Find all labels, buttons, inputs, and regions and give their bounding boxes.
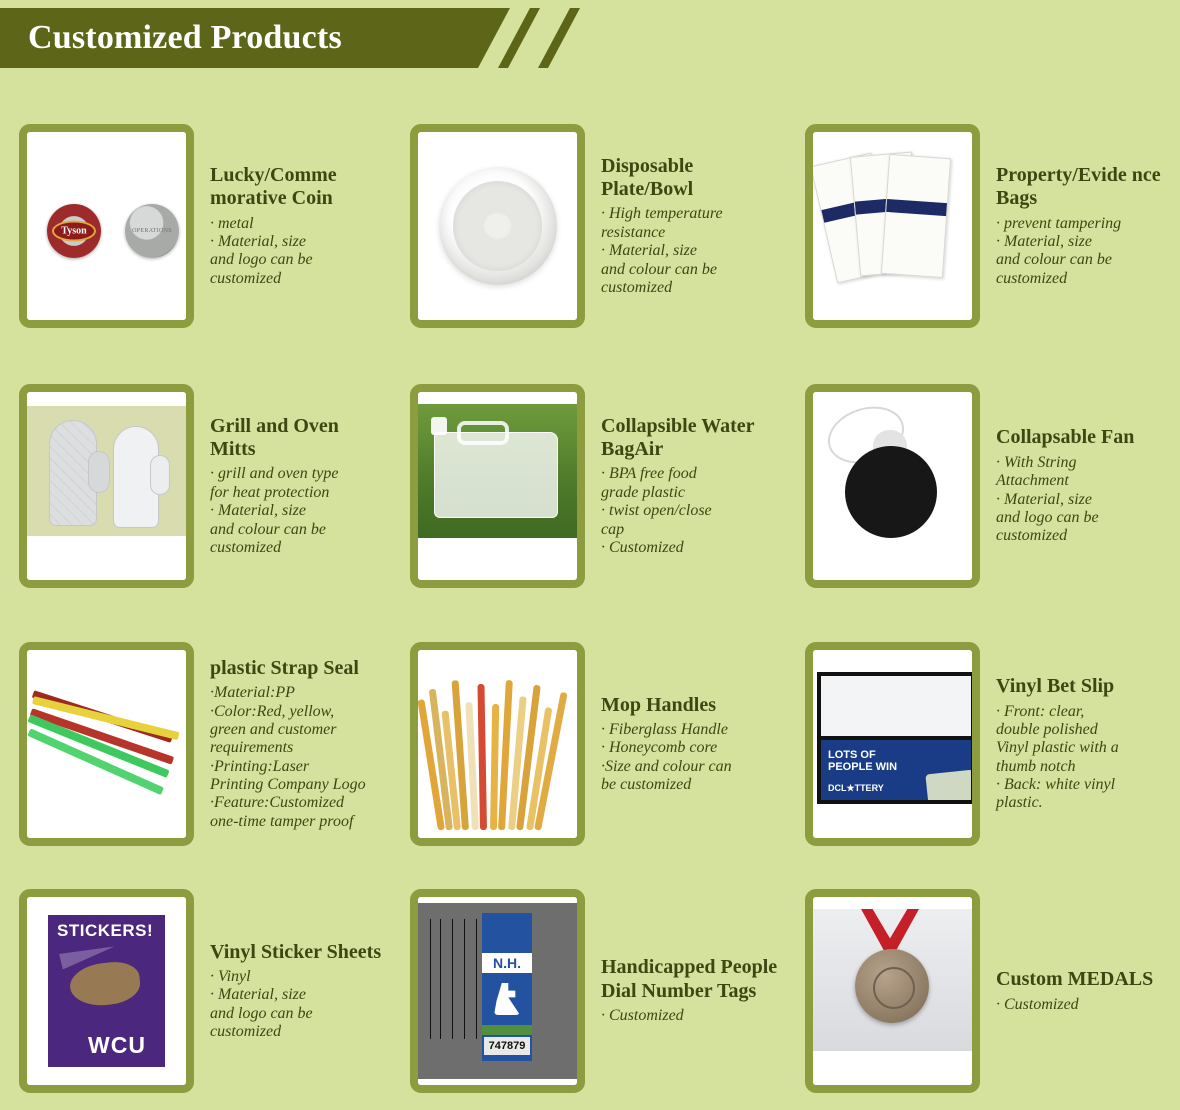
product-image-frame	[410, 124, 585, 328]
dc-lottery-logo: DCL★TTERY	[828, 783, 884, 794]
product-bullet: · Material, size	[210, 502, 386, 520]
product-bullet: and logo can be	[996, 509, 1170, 527]
product-image-frame	[805, 889, 980, 1093]
product-image-frame	[805, 384, 980, 588]
product-bullet: · Vinyl	[210, 968, 386, 986]
product-info: Collapsable Fan · With String Attachment…	[980, 426, 1176, 545]
product-bullet: customized	[996, 270, 1170, 288]
disposable-plate-photo	[418, 132, 577, 320]
product-card[interactable]: LOTS OF PEOPLE WIN DCL★TTERY Vinyl Bet S…	[784, 616, 1176, 872]
product-card[interactable]: Collapsible Water BagAir · BPA free food…	[392, 356, 784, 616]
product-card[interactable]: plastic Strap Seal ·Material:PP ·Color:R…	[0, 616, 392, 872]
product-card[interactable]: Collapsable Fan · With String Attachment…	[784, 356, 1176, 616]
product-bullet: · Fiberglass Handle	[601, 721, 778, 739]
product-bullet: · Customized	[601, 539, 778, 557]
product-bullet: and colour can be	[996, 251, 1170, 269]
oven-mitt-icon	[49, 420, 97, 526]
handicapped-dial-number-tag-photo: N.H. 747879	[418, 897, 577, 1085]
product-bullet: · High temperature	[601, 205, 778, 223]
product-row: Lucky/Comme morative Coin · metal · Mate…	[0, 96, 1180, 356]
product-info: Collapsible Water BagAir · BPA free food…	[585, 415, 784, 558]
product-bullet: · Back: white vinyl	[996, 776, 1170, 794]
product-title: Custom MEDALS	[996, 968, 1170, 991]
mop-handle-icon	[477, 684, 487, 830]
sticker-sheet-icon: STICKERS! WCU	[37, 905, 176, 1077]
product-image-frame: N.H. 747879	[410, 889, 585, 1093]
product-bullet: · Customized	[996, 996, 1170, 1014]
product-title: Property/Evide nce Bags	[996, 164, 1170, 211]
coin-silver-icon	[125, 204, 179, 258]
product-card[interactable]: Disposable Plate/Bowl · High temperature…	[392, 96, 784, 356]
product-bullet: resistance	[601, 224, 778, 242]
medal-disc-icon	[855, 949, 929, 1023]
product-description: · Vinyl · Material, size and logo can be…	[210, 968, 386, 1042]
product-image-frame	[805, 124, 980, 328]
product-info: Lucky/Comme morative Coin · metal · Mate…	[194, 164, 392, 288]
product-bullet: · Material, size	[210, 986, 386, 1004]
product-bullet: grade plastic	[601, 484, 778, 502]
vinyl-bet-slip-photo: LOTS OF PEOPLE WIN DCL★TTERY	[813, 650, 972, 838]
product-bullet: customized	[601, 279, 778, 297]
wire-frame-icon	[428, 919, 480, 1039]
bet-slip-headline-line2: PEOPLE WIN	[828, 761, 897, 773]
product-title: Vinyl Sticker Sheets	[210, 941, 386, 964]
bet-slip-headline-line1: LOTS OF	[828, 749, 876, 761]
fan-disc-icon	[845, 446, 937, 538]
product-bullet: · With String	[996, 454, 1170, 472]
product-bullet: · Customized	[601, 1007, 778, 1025]
product-description: ·Material:PP ·Color:Red, yellow, green a…	[210, 684, 386, 831]
product-bullet: · Material, size	[996, 233, 1170, 251]
product-bullet: · Front: clear,	[996, 703, 1170, 721]
product-info: Property/Evide nce Bags · prevent tamper…	[980, 164, 1176, 288]
product-info: Custom MEDALS · Customized	[980, 968, 1176, 1014]
product-bullet: be customized	[601, 776, 778, 794]
product-info: Vinyl Sticker Sheets · Vinyl · Material,…	[194, 941, 392, 1042]
product-bullet: · prevent tampering	[996, 215, 1170, 233]
product-image-frame	[19, 124, 194, 328]
product-card[interactable]: Lucky/Comme morative Coin · metal · Mate…	[0, 96, 392, 356]
product-card[interactable]: Property/Evide nce Bags · prevent tamper…	[784, 96, 1176, 356]
banknote-icon	[925, 770, 975, 804]
product-bullet: ·Material:PP	[210, 684, 386, 702]
product-bullet: ·Feature:Customized	[210, 794, 386, 812]
product-bullet: for heat protection	[210, 484, 386, 502]
product-info: plastic Strap Seal ·Material:PP ·Color:R…	[194, 657, 392, 832]
permit-green-band	[482, 1025, 532, 1035]
product-bullet: and colour can be	[601, 261, 778, 279]
bet-slip-clear-front-icon	[817, 672, 975, 742]
product-description: · With String Attachment · Material, siz…	[996, 454, 1170, 546]
product-bullet: Printing Company Logo	[210, 776, 386, 794]
product-bullet: requirements	[210, 739, 386, 757]
product-description: · Customized	[996, 996, 1170, 1014]
product-row: Grill and Oven Mitts · grill and oven ty…	[0, 356, 1180, 616]
product-info: Vinyl Bet Slip · Front: clear, double po…	[980, 675, 1176, 813]
collapsable-fan-photo	[813, 392, 972, 580]
product-bullet: · Material, size	[210, 233, 386, 251]
plastic-strap-seals-photo	[27, 650, 186, 838]
product-card[interactable]: STICKERS! WCU Vinyl Sticker Sheets · Vin…	[0, 872, 392, 1110]
product-bullet: · Honeycomb core	[601, 739, 778, 757]
product-title: Handicapped People Dial Number Tags	[601, 956, 778, 1003]
product-bullet: customized	[210, 270, 386, 288]
product-description: · Front: clear, double polished Vinyl pl…	[996, 703, 1170, 813]
sticker-sheet-wordmark: WCU	[88, 1032, 146, 1059]
product-bullet: and logo can be	[210, 1005, 386, 1023]
product-bullet: · Material, size	[601, 242, 778, 260]
product-bullet: · BPA free food	[601, 465, 778, 483]
product-image-frame	[410, 642, 585, 846]
product-description: · grill and oven type for heat protectio…	[210, 465, 386, 557]
collapsible-water-bag-photo	[418, 392, 577, 580]
product-title: Grill and Oven Mitts	[210, 415, 386, 462]
product-info: Handicapped People Dial Number Tags · Cu…	[585, 956, 784, 1025]
product-description: · High temperature resistance · Material…	[601, 205, 778, 297]
product-title: Vinyl Bet Slip	[996, 675, 1170, 698]
page-header: Customized Products	[0, 8, 1180, 68]
product-image-frame	[19, 642, 194, 846]
product-description: · prevent tampering · Material, size and…	[996, 215, 1170, 289]
parking-permit-tag-icon: N.H. 747879	[482, 913, 532, 1061]
product-title: Mop Handles	[601, 694, 778, 717]
water-bag-icon	[434, 432, 558, 518]
permit-number: 747879	[484, 1037, 530, 1055]
product-row: plastic Strap Seal ·Material:PP ·Color:R…	[0, 616, 1180, 872]
product-title: Lucky/Comme morative Coin	[210, 164, 386, 211]
product-title: plastic Strap Seal	[210, 657, 386, 680]
product-bullet: and logo can be	[210, 251, 386, 269]
product-bullet: · Material, size	[996, 491, 1170, 509]
wildcat-mascot-icon	[68, 959, 142, 1008]
product-bullet: and colour can be	[210, 521, 386, 539]
product-description: · metal · Material, size and logo can be…	[210, 215, 386, 289]
product-title: Disposable Plate/Bowl	[601, 155, 778, 202]
product-image-frame: LOTS OF PEOPLE WIN DCL★TTERY	[805, 642, 980, 846]
product-bullet: cap	[601, 521, 778, 539]
wheelchair-icon	[494, 983, 520, 1015]
product-bullet: green and customer	[210, 721, 386, 739]
product-image-frame	[19, 384, 194, 588]
product-info: Grill and Oven Mitts · grill and oven ty…	[194, 415, 392, 558]
coin-red-icon	[47, 204, 101, 258]
product-title: Collapsable Fan	[996, 426, 1170, 449]
bet-slip-printed-back-icon: LOTS OF PEOPLE WIN DCL★TTERY	[817, 736, 975, 804]
product-grid: Lucky/Comme morative Coin · metal · Mate…	[0, 96, 1180, 1110]
product-title: Collapsible Water BagAir	[601, 415, 778, 462]
plate-icon	[439, 167, 557, 285]
product-image-frame: STICKERS! WCU	[19, 889, 194, 1093]
product-card[interactable]: Custom MEDALS · Customized	[784, 872, 1176, 1110]
product-card[interactable]: N.H. 747879 Handicapped People Dial Numb…	[392, 872, 784, 1110]
product-bullet: · grill and oven type	[210, 465, 386, 483]
evidence-bags-photo	[813, 132, 972, 320]
commemorative-coins-photo	[27, 132, 186, 320]
product-bullet: customized	[210, 539, 386, 557]
product-bullet: Attachment	[996, 472, 1170, 490]
product-bullet: · twist open/close	[601, 502, 778, 520]
custom-medal-photo	[813, 897, 972, 1085]
product-info: Mop Handles · Fiberglass Handle · Honeyc…	[585, 694, 784, 795]
vinyl-sticker-sheet-photo: STICKERS! WCU	[27, 897, 186, 1085]
product-description: · Customized	[601, 1007, 778, 1025]
permit-state-label: N.H.	[482, 953, 532, 973]
product-bullet: ·Color:Red, yellow,	[210, 703, 386, 721]
product-description: · BPA free food grade plastic · twist op…	[601, 465, 778, 557]
oven-mitt-icon	[113, 426, 159, 528]
product-bullet: ·Printing:Laser	[210, 758, 386, 776]
evidence-bag-icon	[881, 154, 951, 278]
mop-handle-icon	[490, 704, 499, 830]
product-info: Disposable Plate/Bowl · High temperature…	[585, 155, 784, 298]
product-bullet: thumb notch	[996, 758, 1170, 776]
product-bullet: customized	[210, 1023, 386, 1041]
product-image-frame	[410, 384, 585, 588]
product-bullet: double polished	[996, 721, 1170, 739]
product-bullet: customized	[996, 527, 1170, 545]
product-row: STICKERS! WCU Vinyl Sticker Sheets · Vin…	[0, 872, 1180, 1110]
product-description: · Fiberglass Handle · Honeycomb core ·Si…	[601, 721, 778, 795]
sticker-sheet-heading: STICKERS!	[57, 921, 153, 941]
product-bullet: Vinyl plastic with a	[996, 739, 1170, 757]
product-bullet: ·Size and colour can	[601, 758, 778, 776]
mop-handles-photo	[418, 650, 577, 838]
product-bullet: one-time tamper proof	[210, 813, 386, 831]
page-title: Customized Products	[28, 14, 342, 62]
product-card[interactable]: Grill and Oven Mitts · grill and oven ty…	[0, 356, 392, 616]
product-bullet: · metal	[210, 215, 386, 233]
product-bullet: plastic.	[996, 794, 1170, 812]
product-card[interactable]: Mop Handles · Fiberglass Handle · Honeyc…	[392, 616, 784, 872]
oven-mitts-photo	[27, 392, 186, 580]
header-slash-decor-2	[538, 8, 580, 68]
